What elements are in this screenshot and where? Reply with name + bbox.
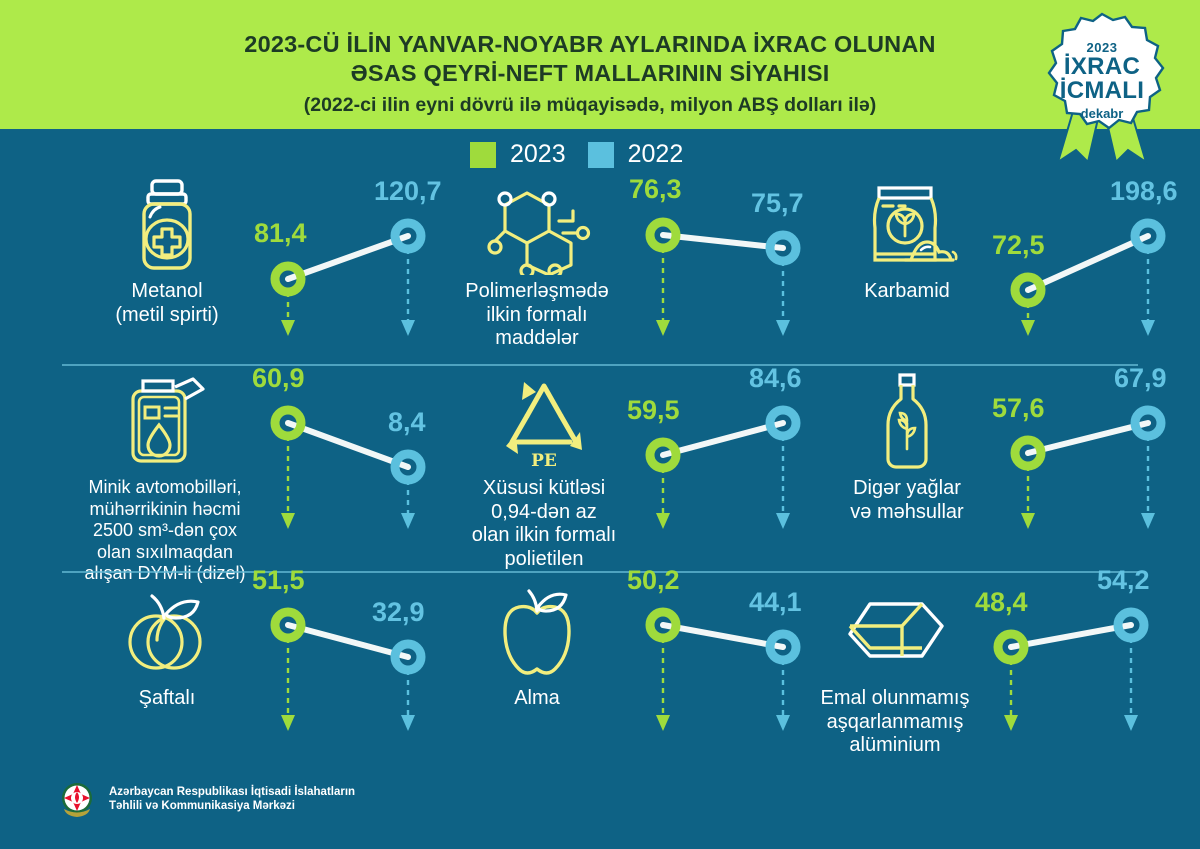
jerrycan-icon <box>70 369 260 475</box>
item-metanol: Metanol (metil spirti) 81,4 120,7 <box>62 168 432 365</box>
title-subtitle: (2022-ci ilin eyni dövrü ilə müqayisədə,… <box>150 91 1030 119</box>
value-pair-chart: 81,4 120,7 <box>252 168 452 365</box>
label-line: olan ilkin formalı <box>449 524 639 548</box>
value-2022: 84,6 <box>749 363 802 394</box>
value-2022: 44,1 <box>749 587 802 618</box>
value-pair-chart: 76,3 75,7 <box>627 168 827 365</box>
page-title: 2023-CÜ İLİN YANVAR-NOYABR AYLARINDA İXR… <box>150 30 1030 119</box>
items-row-1: Metanol (metil spirti) 81,4 120,7 <box>0 168 1200 365</box>
aluminium-ingot-icon <box>800 579 990 685</box>
item-polietilen: PE Xüsusi kütləsi 0,94-dən az olan ilkin… <box>437 365 807 575</box>
label-line: polietilen <box>449 548 639 572</box>
label-line: Metanol <box>72 280 262 304</box>
apple-icon <box>442 579 632 685</box>
item-alma: Alma 50,2 44,1 <box>437 575 807 765</box>
label-line: 2500 sm³-dən çox <box>70 520 260 542</box>
label-line: Digər yağlar <box>812 477 1002 501</box>
item-diger-yaglar: Digər yağlar və məhsullar 57,6 67,9 <box>812 365 1182 575</box>
value-2022: 32,9 <box>372 597 425 628</box>
value-2022: 8,4 <box>388 407 426 438</box>
medicine-bottle-icon <box>72 172 262 278</box>
legend-swatch-green-icon <box>470 142 496 168</box>
footer-line-1: Azərbaycan Respublikası İqtisadi İslahat… <box>109 785 355 800</box>
value-2022: 120,7 <box>374 176 442 207</box>
item-label: Polimerləşmədə ilkin formalı maddələr <box>442 280 632 351</box>
badge-line-1: İXRAC <box>1022 55 1182 79</box>
label-line: aşqarlanmamış <box>800 711 990 735</box>
value-pair-chart: 48,4 54,2 <box>975 575 1175 772</box>
legend-swatch-blue-icon <box>588 142 614 168</box>
badge-line-2: İCMALI <box>1022 79 1182 103</box>
item-saftali: Şaftalı 51,5 32,9 <box>62 575 432 765</box>
title-line-1: 2023-CÜ İLİN YANVAR-NOYABR AYLARINDA İXR… <box>150 30 1030 59</box>
fertilizer-bag-icon <box>812 172 1002 278</box>
value-2023: 72,5 <box>992 230 1045 261</box>
item-aluminium: Emal olunmamış aşqarlanmamış alüminium 4… <box>800 575 1182 765</box>
value-pair-chart: 59,5 84,6 <box>627 365 827 562</box>
legend-label-2023: 2023 <box>510 140 566 169</box>
oil-bottle-icon <box>812 369 1002 475</box>
footer: Azərbaycan Respublikası İqtisadi İslahat… <box>56 778 355 820</box>
value-2023: 57,6 <box>992 393 1045 424</box>
value-2022: 198,6 <box>1110 176 1178 207</box>
label-line: Emal olunmamış <box>800 687 990 711</box>
legend-label-2022: 2022 <box>628 140 684 169</box>
items-row-2: Minik avtomobilləri, mühərrikinin həcmi … <box>0 365 1200 575</box>
label-line: alüminium <box>800 734 990 758</box>
item-label: Alma <box>442 687 632 711</box>
recycling-pe-icon: PE <box>449 369 639 475</box>
value-2023: 50,2 <box>627 565 680 596</box>
peach-icon <box>72 579 262 685</box>
molecule-icon <box>442 172 632 278</box>
label-line: Alma <box>442 687 632 711</box>
label-line: Karbamid <box>812 280 1002 304</box>
svg-text:PE: PE <box>531 451 557 470</box>
item-label: Metanol (metil spirti) <box>72 280 262 327</box>
label-line: olan sıxılmaqdan <box>70 542 260 564</box>
legend-item-2022: 2022 <box>588 140 684 169</box>
item-label: Xüsusi kütləsi 0,94-dən az olan ilkin fo… <box>449 477 639 571</box>
value-2023: 48,4 <box>975 587 1028 618</box>
label-line: Polimerləşmədə <box>442 280 632 304</box>
title-line-2: ƏSAS QEYRİ-NEFT MALLARININ SİYAHISI <box>150 59 1030 88</box>
label-line: (metil spirti) <box>72 304 262 328</box>
items-grid: Metanol (metil spirti) 81,4 120,7 <box>0 168 1200 765</box>
legend-item-2023: 2023 <box>470 140 566 169</box>
value-2023: 51,5 <box>252 565 305 596</box>
item-polimerlesmede: Polimerləşmədə ilkin formalı maddələr 76… <box>437 168 807 365</box>
footer-text: Azərbaycan Respublikası İqtisadi İslahat… <box>109 785 355 814</box>
value-pair-chart: 57,6 67,9 <box>992 365 1192 562</box>
value-pair-chart: 60,9 8,4 <box>252 365 452 562</box>
value-pair-chart: 51,5 32,9 <box>252 575 452 772</box>
item-label: Emal olunmamış aşqarlanmamış alüminium <box>800 687 990 758</box>
item-label: Şaftalı <box>72 687 262 711</box>
value-2023: 60,9 <box>252 363 305 394</box>
value-2022: 54,2 <box>1097 565 1150 596</box>
label-line: Şaftalı <box>72 687 262 711</box>
label-line: Minik avtomobilləri, <box>70 477 260 499</box>
item-label: Digər yağlar və məhsullar <box>812 477 1002 524</box>
label-line: Xüsusi kütləsi <box>449 477 639 501</box>
legend: 2023 2022 <box>470 140 683 169</box>
label-line: mühərrikinin həcmi <box>70 499 260 521</box>
label-line: və məhsullar <box>812 501 1002 525</box>
export-review-badge: 2023 İXRAC İCMALI dekabr <box>1022 4 1182 164</box>
pair-svg <box>252 365 452 575</box>
value-2023: 81,4 <box>254 218 307 249</box>
row-divider <box>62 571 1138 573</box>
items-row-3: Şaftalı 51,5 32,9 <box>0 575 1200 765</box>
item-dizel-avtomobil: Minik avtomobilləri, mühərrikinin həcmi … <box>62 365 432 575</box>
label-line: maddələr <box>442 327 632 351</box>
badge-month: dekabr <box>1022 106 1182 121</box>
value-pair-chart: 72,5 198,6 <box>992 168 1192 365</box>
item-karbamid: Karbamid 72,5 198,6 <box>812 168 1182 365</box>
value-2023: 59,5 <box>627 395 680 426</box>
azerbaijan-emblem-icon <box>56 778 98 820</box>
item-label: Minik avtomobilləri, mühərrikinin həcmi … <box>70 477 260 585</box>
label-line: ilkin formalı <box>442 304 632 328</box>
header-band: 2023-CÜ İLİN YANVAR-NOYABR AYLARINDA İXR… <box>0 0 1200 129</box>
value-pair-chart: 50,2 44,1 <box>627 575 827 772</box>
value-2022: 67,9 <box>1114 363 1167 394</box>
label-line: 0,94-dən az <box>449 501 639 525</box>
item-label: Karbamid <box>812 280 1002 304</box>
value-2022: 75,7 <box>751 188 804 219</box>
value-2023: 76,3 <box>629 174 682 205</box>
footer-line-2: Təhlili və Kommunikasiya Mərkəzi <box>109 799 355 814</box>
